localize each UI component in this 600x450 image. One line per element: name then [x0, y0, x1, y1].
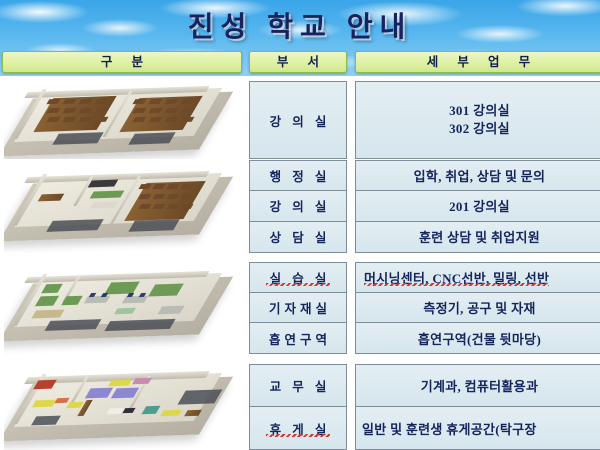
department-label: 휴 게 실: [266, 419, 331, 438]
department-cell[interactable]: 흡연구역: [249, 323, 347, 354]
floor-plan-image-4: [4, 364, 240, 450]
table-row-group: 교 무 실 휴 게 실 기계과, 컴퓨터활용과 일반 및 훈련생 휴게공간(탁구…: [0, 364, 600, 450]
floor-plan-image-3: [4, 262, 240, 354]
floor-plan-admin-3d-icon: [4, 160, 240, 253]
column-header-department: 부 서: [249, 51, 347, 73]
floor-plan-image-2: [4, 160, 240, 253]
department-cell[interactable]: 교 무 실: [249, 364, 347, 407]
department-column: 행 정 실 강 의 실 상 담 실: [249, 160, 347, 253]
detail-column: 기계과, 컴퓨터활용과 일반 및 훈련생 휴게공간(탁구장: [355, 364, 600, 450]
detail-label: 머시닝센터, CNC선반, 밀링, 선반: [364, 268, 549, 287]
detail-cell[interactable]: 훈련 상담 및 취업지원: [355, 222, 600, 253]
detail-line: 301 강의실: [449, 102, 510, 120]
detail-cell[interactable]: 301 강의실 302 강의실: [355, 81, 600, 159]
department-cell[interactable]: 강 의 실: [249, 81, 347, 159]
detail-cell[interactable]: 201 강의실: [355, 191, 600, 222]
table-body: 강 의 실 301 강의실 302 강의실: [0, 76, 600, 450]
department-label: 실 습 실: [266, 268, 331, 287]
column-header-detail: 세 부 업 무: [355, 51, 600, 73]
page-title: 진성 학교 안내: [0, 8, 600, 48]
detail-column: 머시닝센터, CNC선반, 밀링, 선반 측정기, 공구 및 자재 흡연구역(건…: [355, 262, 600, 354]
detail-cell[interactable]: 입학, 취업, 상담 및 문의: [355, 160, 600, 191]
department-column: 교 무 실 휴 게 실: [249, 364, 347, 450]
detail-column: 301 강의실 302 강의실: [355, 81, 600, 159]
column-header-category: 구 분: [2, 51, 242, 73]
department-cell[interactable]: 행 정 실: [249, 160, 347, 191]
detail-cell[interactable]: 흡연구역(건물 뒷마당): [355, 323, 600, 354]
table-row-group: 실 습 실 기자재실 흡연구역 머시닝센터, CNC선반, 밀링, 선반 측정기…: [0, 262, 600, 354]
table-row-group: 행 정 실 강 의 실 상 담 실 입학, 취업, 상담 및 문의 201 강의…: [0, 160, 600, 253]
detail-cell[interactable]: 머시닝센터, CNC선반, 밀링, 선반: [355, 262, 600, 293]
detail-column: 입학, 취업, 상담 및 문의 201 강의실 훈련 상담 및 취업지원: [355, 160, 600, 253]
detail-line: 302 강의실: [449, 120, 510, 138]
floor-plan-image-1: [4, 81, 240, 159]
table-row-group: 강 의 실 301 강의실 302 강의실: [0, 81, 600, 159]
department-cell[interactable]: 기자재실: [249, 293, 347, 324]
detail-cell[interactable]: 기계과, 컴퓨터활용과: [355, 364, 600, 407]
floor-plan-lounge-3d-icon: [4, 364, 240, 450]
detail-cell[interactable]: 측정기, 공구 및 자재: [355, 293, 600, 324]
floor-plan-workshop-3d-icon: [4, 262, 240, 354]
department-cell[interactable]: 실 습 실: [249, 262, 347, 293]
detail-cell[interactable]: 일반 및 훈련생 휴게공간(탁구장: [355, 407, 600, 450]
floor-plan-classrooms-3d-icon: [4, 81, 240, 159]
department-column: 강 의 실: [249, 81, 347, 159]
department-cell[interactable]: 강 의 실: [249, 191, 347, 222]
department-cell[interactable]: 상 담 실: [249, 222, 347, 253]
department-column: 실 습 실 기자재실 흡연구역: [249, 262, 347, 354]
department-cell[interactable]: 휴 게 실: [249, 407, 347, 450]
